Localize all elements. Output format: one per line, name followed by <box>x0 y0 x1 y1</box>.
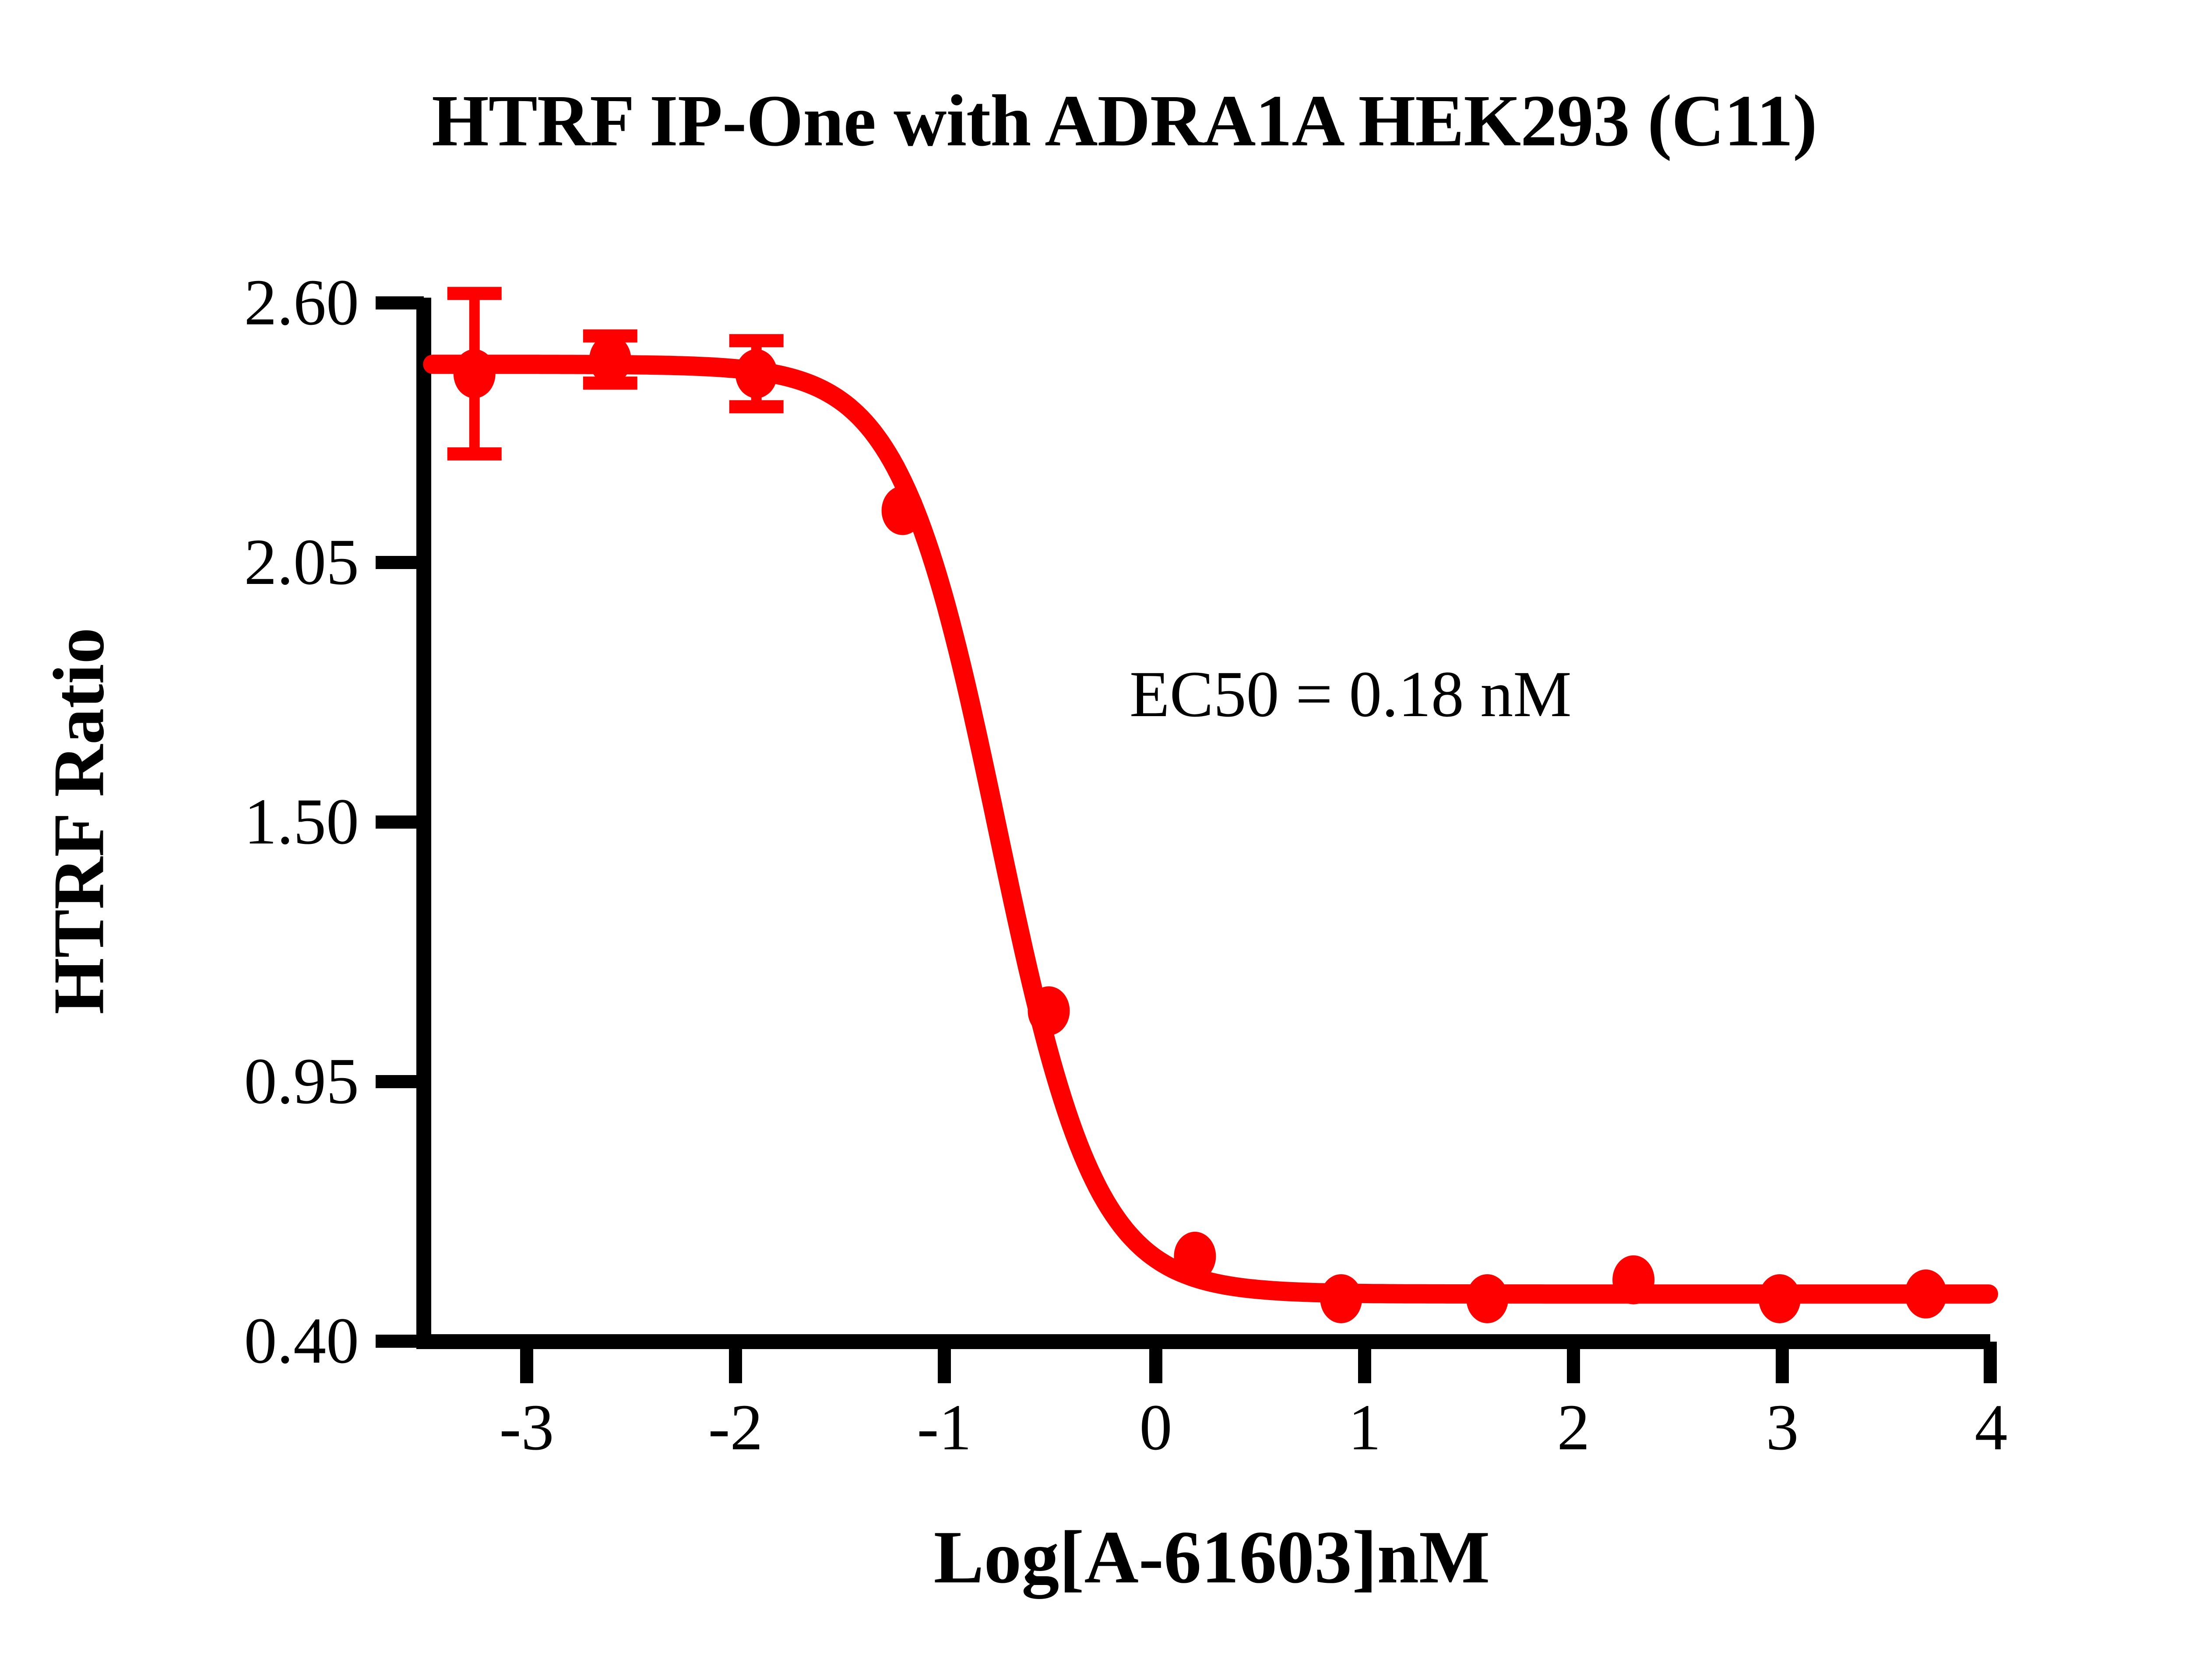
data-point-marker[interactable] <box>1905 1269 1947 1318</box>
data-point-marker[interactable] <box>1466 1274 1508 1323</box>
data-point-marker[interactable] <box>454 349 496 398</box>
data-point-marker[interactable] <box>1028 986 1070 1035</box>
data-point-marker[interactable] <box>1612 1255 1654 1304</box>
data-point-marker[interactable] <box>1320 1274 1362 1323</box>
data-point-marker[interactable] <box>736 349 778 398</box>
plot-area <box>0 0 2189 1680</box>
data-point-marker[interactable] <box>1174 1232 1216 1281</box>
figure-canvas: HTRF IP-One with ADRA1A HEK293 (C11) HTR… <box>0 0 2189 1680</box>
data-point-marker[interactable] <box>882 486 924 535</box>
data-points <box>454 335 1947 1323</box>
axis-lines <box>416 298 1990 1342</box>
data-point-marker[interactable] <box>589 335 631 384</box>
data-point-marker[interactable] <box>1759 1274 1801 1323</box>
fit-curve <box>433 364 1988 1294</box>
